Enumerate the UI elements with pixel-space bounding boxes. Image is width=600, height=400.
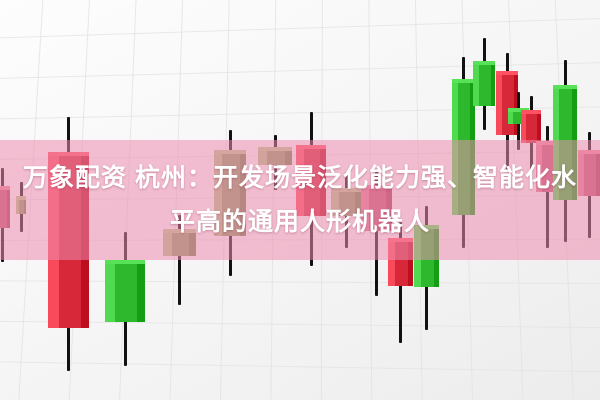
- grid-line-horizontal: [0, 280, 600, 284]
- grid-line-horizontal: [0, 320, 600, 329]
- candle-body-highlight: [521, 110, 526, 143]
- candlestick-chart-image: 万象配资 杭州：开发场景泛化能力强、智能化水 平高的通用人形机器人: [0, 0, 600, 400]
- candle-body-cap: [452, 79, 475, 83]
- candle-body-shadow: [491, 61, 495, 106]
- candle-body-highlight: [105, 260, 115, 322]
- candle-12: [473, 38, 495, 130]
- candle-body-cap: [473, 61, 495, 65]
- headline-overlay-band: [0, 140, 600, 260]
- grid-line-horizontal: [0, 360, 600, 374]
- candle-body-highlight: [473, 61, 479, 106]
- candle-body-cap: [521, 110, 541, 114]
- candle-body-cap: [553, 85, 577, 89]
- candle-body-cap: [105, 260, 145, 264]
- candle-body: [105, 260, 145, 322]
- candle-body: [473, 61, 495, 106]
- candle-body-cap: [496, 71, 518, 75]
- candle-body-highlight: [496, 71, 502, 135]
- grid-line-horizontal: [0, 0, 600, 1]
- candle-body-shadow: [137, 260, 145, 322]
